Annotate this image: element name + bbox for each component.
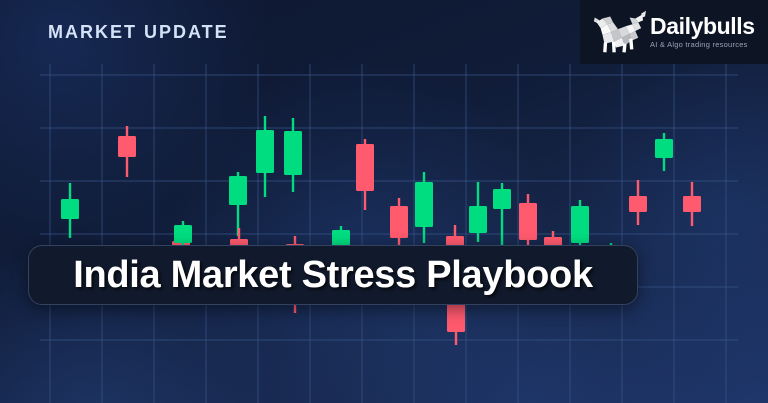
candle-13: [415, 172, 433, 243]
candle-5: [229, 172, 247, 236]
title-bar: India Market Stress Playbook: [28, 245, 638, 305]
candle-24: [683, 182, 701, 226]
candle-17: [493, 183, 511, 248]
market-update-banner: MARKET UPDATE: [0, 0, 768, 403]
bull-icon: [588, 7, 646, 57]
candle-23: [629, 180, 647, 225]
candle-1: [61, 183, 79, 238]
eyebrow-label: MARKET UPDATE: [48, 22, 229, 43]
logo-text-block: Dailybulls AI & Algo trading resources: [650, 15, 755, 49]
candle-12: [390, 198, 408, 251]
candle-2: [118, 126, 136, 177]
logo-tagline: AI & Algo trading resources: [650, 40, 755, 49]
candle-11: [356, 139, 374, 210]
brand-logo[interactable]: Dailybulls AI & Algo trading resources: [580, 0, 768, 64]
chart-gridlines: [40, 64, 738, 403]
page-title: India Market Stress Playbook: [73, 254, 593, 297]
candle-18: [519, 194, 537, 250]
logo-wordmark: Dailybulls: [650, 15, 755, 38]
candle-22: [655, 133, 673, 171]
candle-series: [61, 116, 701, 345]
candle-16: [469, 182, 487, 242]
